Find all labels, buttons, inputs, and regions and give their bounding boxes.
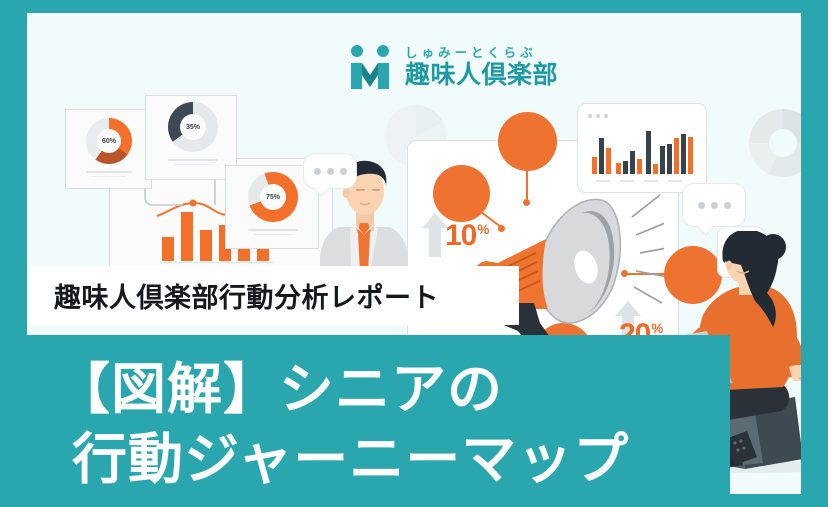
kpi-10-unit: % <box>477 222 488 237</box>
brand-name: 趣味人倶楽部 <box>405 61 558 89</box>
subtitle-text: 趣味人倶楽部行動分析レポート <box>54 276 439 315</box>
bar <box>674 138 679 174</box>
donut-card-60: 60% <box>65 109 152 189</box>
bar <box>599 138 604 174</box>
trend-axis-line <box>160 262 274 263</box>
bubble-dot <box>698 202 705 209</box>
two-people-m-logo-icon <box>345 44 395 92</box>
brand-ruby: しゅみーとくらぶ <box>405 47 558 60</box>
bubble-dot <box>314 168 321 175</box>
donut-label: 60% <box>86 118 132 164</box>
bar <box>623 161 628 174</box>
bubble-dot <box>711 202 718 209</box>
bar <box>616 163 621 174</box>
window-bar-card <box>577 103 707 193</box>
donut-chart-75: 75% <box>248 172 298 222</box>
orange-circle-top <box>498 112 557 171</box>
donut-card-35: 35% <box>145 95 237 180</box>
donut-label: 75% <box>248 172 298 222</box>
speech-bubble-left <box>303 153 357 189</box>
bar <box>688 137 693 174</box>
title-band: 【図解】シニアの 行動ジャーニーマップ <box>27 335 730 494</box>
kpi-20-unit: % <box>651 321 662 336</box>
donut-chart-60: 60% <box>86 118 132 164</box>
bar <box>660 146 665 174</box>
bar <box>653 164 658 174</box>
title-line-1: 【図解】シニアの <box>55 344 503 424</box>
banner-canvas: しゅみーとくらぶ 趣味人倶楽部 <box>0 0 828 507</box>
window-dots <box>588 114 608 118</box>
bubble-dot <box>327 168 334 175</box>
banner-inner-page: しゅみーとくらぶ 趣味人倶楽部 <box>27 13 801 494</box>
bar <box>646 131 651 174</box>
kpi-10-value: 10 <box>445 219 476 252</box>
title-line-2: 行動ジャーニーマップ <box>72 414 629 494</box>
donut-chart-35: 35% <box>168 102 218 152</box>
bubble-dot <box>340 168 347 175</box>
brand-logo: しゅみーとくらぶ 趣味人倶楽部 <box>345 39 545 97</box>
donut-label: 35% <box>168 102 218 152</box>
kpi-10: 10% <box>445 219 488 253</box>
speech-bubble-right <box>682 183 746 227</box>
bar <box>592 157 597 174</box>
bar <box>630 151 635 174</box>
bar <box>606 148 611 174</box>
bar <box>637 159 642 174</box>
bar <box>681 134 686 174</box>
bubble-dot <box>724 202 731 209</box>
subtitle-band: 趣味人倶楽部行動分析レポート <box>27 266 519 325</box>
bar <box>162 237 174 261</box>
bar <box>200 230 212 261</box>
bar <box>667 144 672 174</box>
decorative-donut-right <box>749 109 801 177</box>
window-bar-chart <box>592 126 694 174</box>
brand-logo-text: しゅみーとくらぶ 趣味人倶楽部 <box>405 47 558 88</box>
